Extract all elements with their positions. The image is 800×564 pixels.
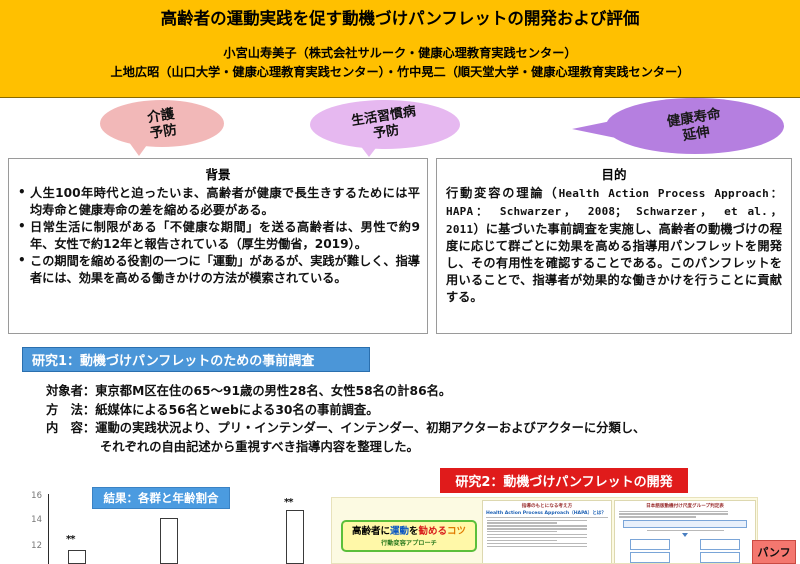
list-item: 日常生活に制限がある「不健康な期間」を送る高齢者は、男性で約9年、女性で約12年…	[16, 219, 420, 252]
study1-body: 対象者：東京都M区在住の65～91歳の男性28名、女性58名の計86名。 方 法…	[46, 382, 786, 456]
author-line-1: 小宮山寿美子（株式会社サルーク・健康心理教育実践センター）	[0, 44, 800, 63]
chart-y-tick-label: 12	[14, 541, 42, 551]
purpose-panel-heading: 目的	[446, 164, 782, 183]
pamphlet-cover-subtitle: 行動変容アプローチ	[381, 538, 437, 547]
author-list: 小宮山寿美子（株式会社サルーク・健康心理教育実践センター） 上地広昭（山口大学・…	[0, 44, 800, 82]
purpose-text-suffix: ）に基づいた事前調査を実施し、高齢者の動機づけの程度に応じて群ごとに効果を高める…	[446, 222, 782, 304]
pamphlet-page1-heading: 指導のもとになる考え方	[483, 503, 611, 509]
background-bullet-list: 人生100年時代と迫ったいま、高齢者が健康で長生きするためには平均寿命と健康寿命…	[16, 185, 420, 286]
chart-y-tick-label: 14	[14, 515, 42, 525]
pamphlet-page1-body	[483, 520, 611, 547]
study2-header-band: 研究2：動機づけパンフレットの開発	[440, 468, 688, 493]
list-item: この期間を縮める役割の一つに「運動」があるが、実践が難しく、指導者には、効果を高…	[16, 253, 420, 286]
age-ratio-bar-chart: 16 14 12 ** **	[14, 488, 324, 564]
cover-part-3: を	[409, 526, 419, 537]
poster-canvas: 高齢者の運動実践を促す動機づけパンフレットの開発および評価 小宮山寿美子（株式会…	[0, 0, 800, 564]
pamphlet-badge-label: パンフ	[757, 544, 790, 560]
chart-bar	[68, 550, 86, 564]
pamphlet-page2-heading: 日本語版動機付け尺度グループ判定表	[615, 503, 755, 509]
list-item: 人生100年時代と迫ったいま、高齢者が健康で長生きするためには平均寿命と健康寿命…	[16, 185, 420, 218]
speech-bubble-group: 介護 予防 生活習慣病 予防 健康寿命 延伸	[0, 98, 800, 160]
study1-header-label: 研究1：動機づけパンフレットのための事前調査	[32, 350, 314, 369]
speech-bubble-kaigo-yobou: 介護 予防	[100, 100, 224, 147]
chart-significance-marker: **	[284, 497, 292, 508]
study1-header-band: 研究1：動機づけパンフレットのための事前調査	[22, 347, 370, 372]
study1-row-content-cont: それぞれの自由記述から重視すべき指導内容を整理した。	[46, 438, 786, 457]
speech-bubble-seikatsushukanbyou-yobou: 生活習慣病 予防	[310, 100, 460, 149]
pamphlet-cover: 高齢者に運動を勧めるコツ 行動変容アプローチ	[341, 520, 477, 552]
pamphlet-cover-title: 高齢者に運動を勧めるコツ	[352, 526, 466, 537]
study2-header-label: 研究2：動機づけパンフレットの開発	[455, 471, 672, 490]
cover-part-5: コツ	[447, 526, 466, 537]
cover-part-4: 勧める	[419, 526, 448, 537]
pamphlet-page-2: 日本語版動機付け尺度グループ判定表	[614, 500, 756, 564]
bubble-text-line-2: 予防	[372, 122, 400, 142]
study1-row-content: 内 容：運動の実践状況より、プリ・インテンダー、インテンダー、初期アクターおよび…	[46, 419, 786, 438]
bubble-text: 介護 予防	[97, 91, 227, 157]
background-panel: 背景 人生100年時代と迫ったいま、高齢者が健康で長生きするためには平均寿命と健…	[8, 158, 428, 334]
purpose-text-prefix: 行動変容の理論（	[446, 186, 559, 200]
pamphlet-page1-subheading: Health Action Process Approach（HAPA）とは？	[486, 510, 608, 518]
poster-header: 高齢者の運動実践を促す動機づけパンフレットの開発および評価 小宮山寿美子（株式会…	[0, 0, 800, 98]
chart-significance-marker: **	[66, 534, 74, 545]
author-line-2: 上地広昭（山口大学・健康心理教育実践センター）・竹中晃二（順天堂大学・健康心理教…	[0, 63, 800, 82]
purpose-panel: 目的 行動変容の理論（Health Action Process Approac…	[436, 158, 792, 334]
pamphlet-preview-image[interactable]: 高齢者に運動を勧めるコツ 行動変容アプローチ 指導のもとになる考え方 Healt…	[331, 497, 758, 564]
chart-y-tick-label: 16	[14, 491, 42, 501]
pamphlet-page-1: 指導のもとになる考え方 Health Action Process Approa…	[482, 500, 612, 564]
speech-bubble-kenkoujumyou-enshin: 健康寿命 延伸	[606, 98, 784, 154]
study1-row-subjects: 対象者：東京都M区在住の65～91歳の男性28名、女性58名の計86名。	[46, 382, 786, 401]
pamphlet-badge[interactable]: パンフ	[752, 540, 796, 564]
background-panel-heading: 背景	[16, 164, 420, 183]
chart-bar	[160, 518, 178, 564]
chart-y-axis	[48, 494, 49, 564]
bubble-text-line-2: 予防	[149, 121, 178, 141]
bubble-text: 生活習慣病 予防	[307, 89, 463, 161]
page-title: 高齢者の運動実践を促す動機づけパンフレットの開発および評価	[0, 5, 800, 29]
bubble-text-line-2: 延伸	[682, 124, 711, 144]
study1-row-method: 方 法：紙媒体による56名とwebによる30名の事前調査。	[46, 401, 786, 420]
cover-part-1: 高齢者に	[352, 526, 390, 537]
purpose-panel-body: 行動変容の理論（Health Action Process Approach：H…	[446, 185, 782, 306]
chart-bar	[286, 510, 304, 564]
cover-part-2: 運動	[390, 526, 409, 537]
pamphlet-page2-body	[615, 511, 755, 563]
